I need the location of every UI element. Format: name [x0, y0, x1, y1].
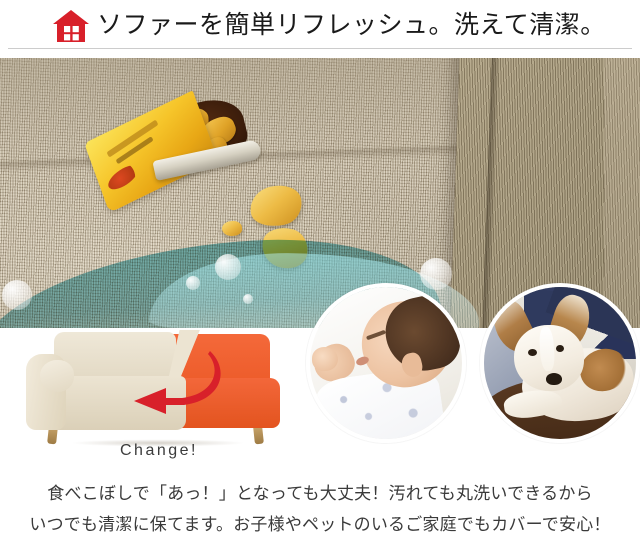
dog-nose [546, 373, 562, 385]
baby-photo [306, 283, 466, 443]
dog-eye [528, 349, 537, 356]
change-arrow-icon [104, 348, 230, 418]
bubble-icon [420, 258, 452, 290]
page-header: ソファーを簡単リフレッシュ。洗えて清潔。 [0, 0, 640, 50]
sofa-covered-cushion [40, 360, 74, 392]
bubble-icon [243, 294, 253, 304]
header-divider [8, 48, 632, 49]
change-caption: Change! [36, 442, 282, 460]
house-icon [52, 9, 90, 43]
footer-copy: 食べこぼしで「あっ！」となっても大丈夫！汚れても丸洗いできるから いつでも清潔に… [0, 478, 640, 540]
footer-line-1: 食べこぼしで「あっ！」となっても大丈夫！汚れても丸洗いできるから [0, 478, 640, 509]
footer-line-2: いつでも清潔に保てます。お子様やペットのいるご家庭でもカバーで安心！ [0, 509, 640, 540]
bubble-icon [2, 280, 32, 310]
bubble-icon [186, 276, 200, 290]
dog-photo [480, 283, 640, 443]
sofa-change-illustration: Change! [18, 330, 300, 450]
baby-hand [312, 347, 338, 371]
bubble-icon [215, 254, 241, 280]
dog-eye [556, 345, 564, 352]
page-title: ソファーを簡単リフレッシュ。洗えて清潔。 [97, 8, 606, 42]
